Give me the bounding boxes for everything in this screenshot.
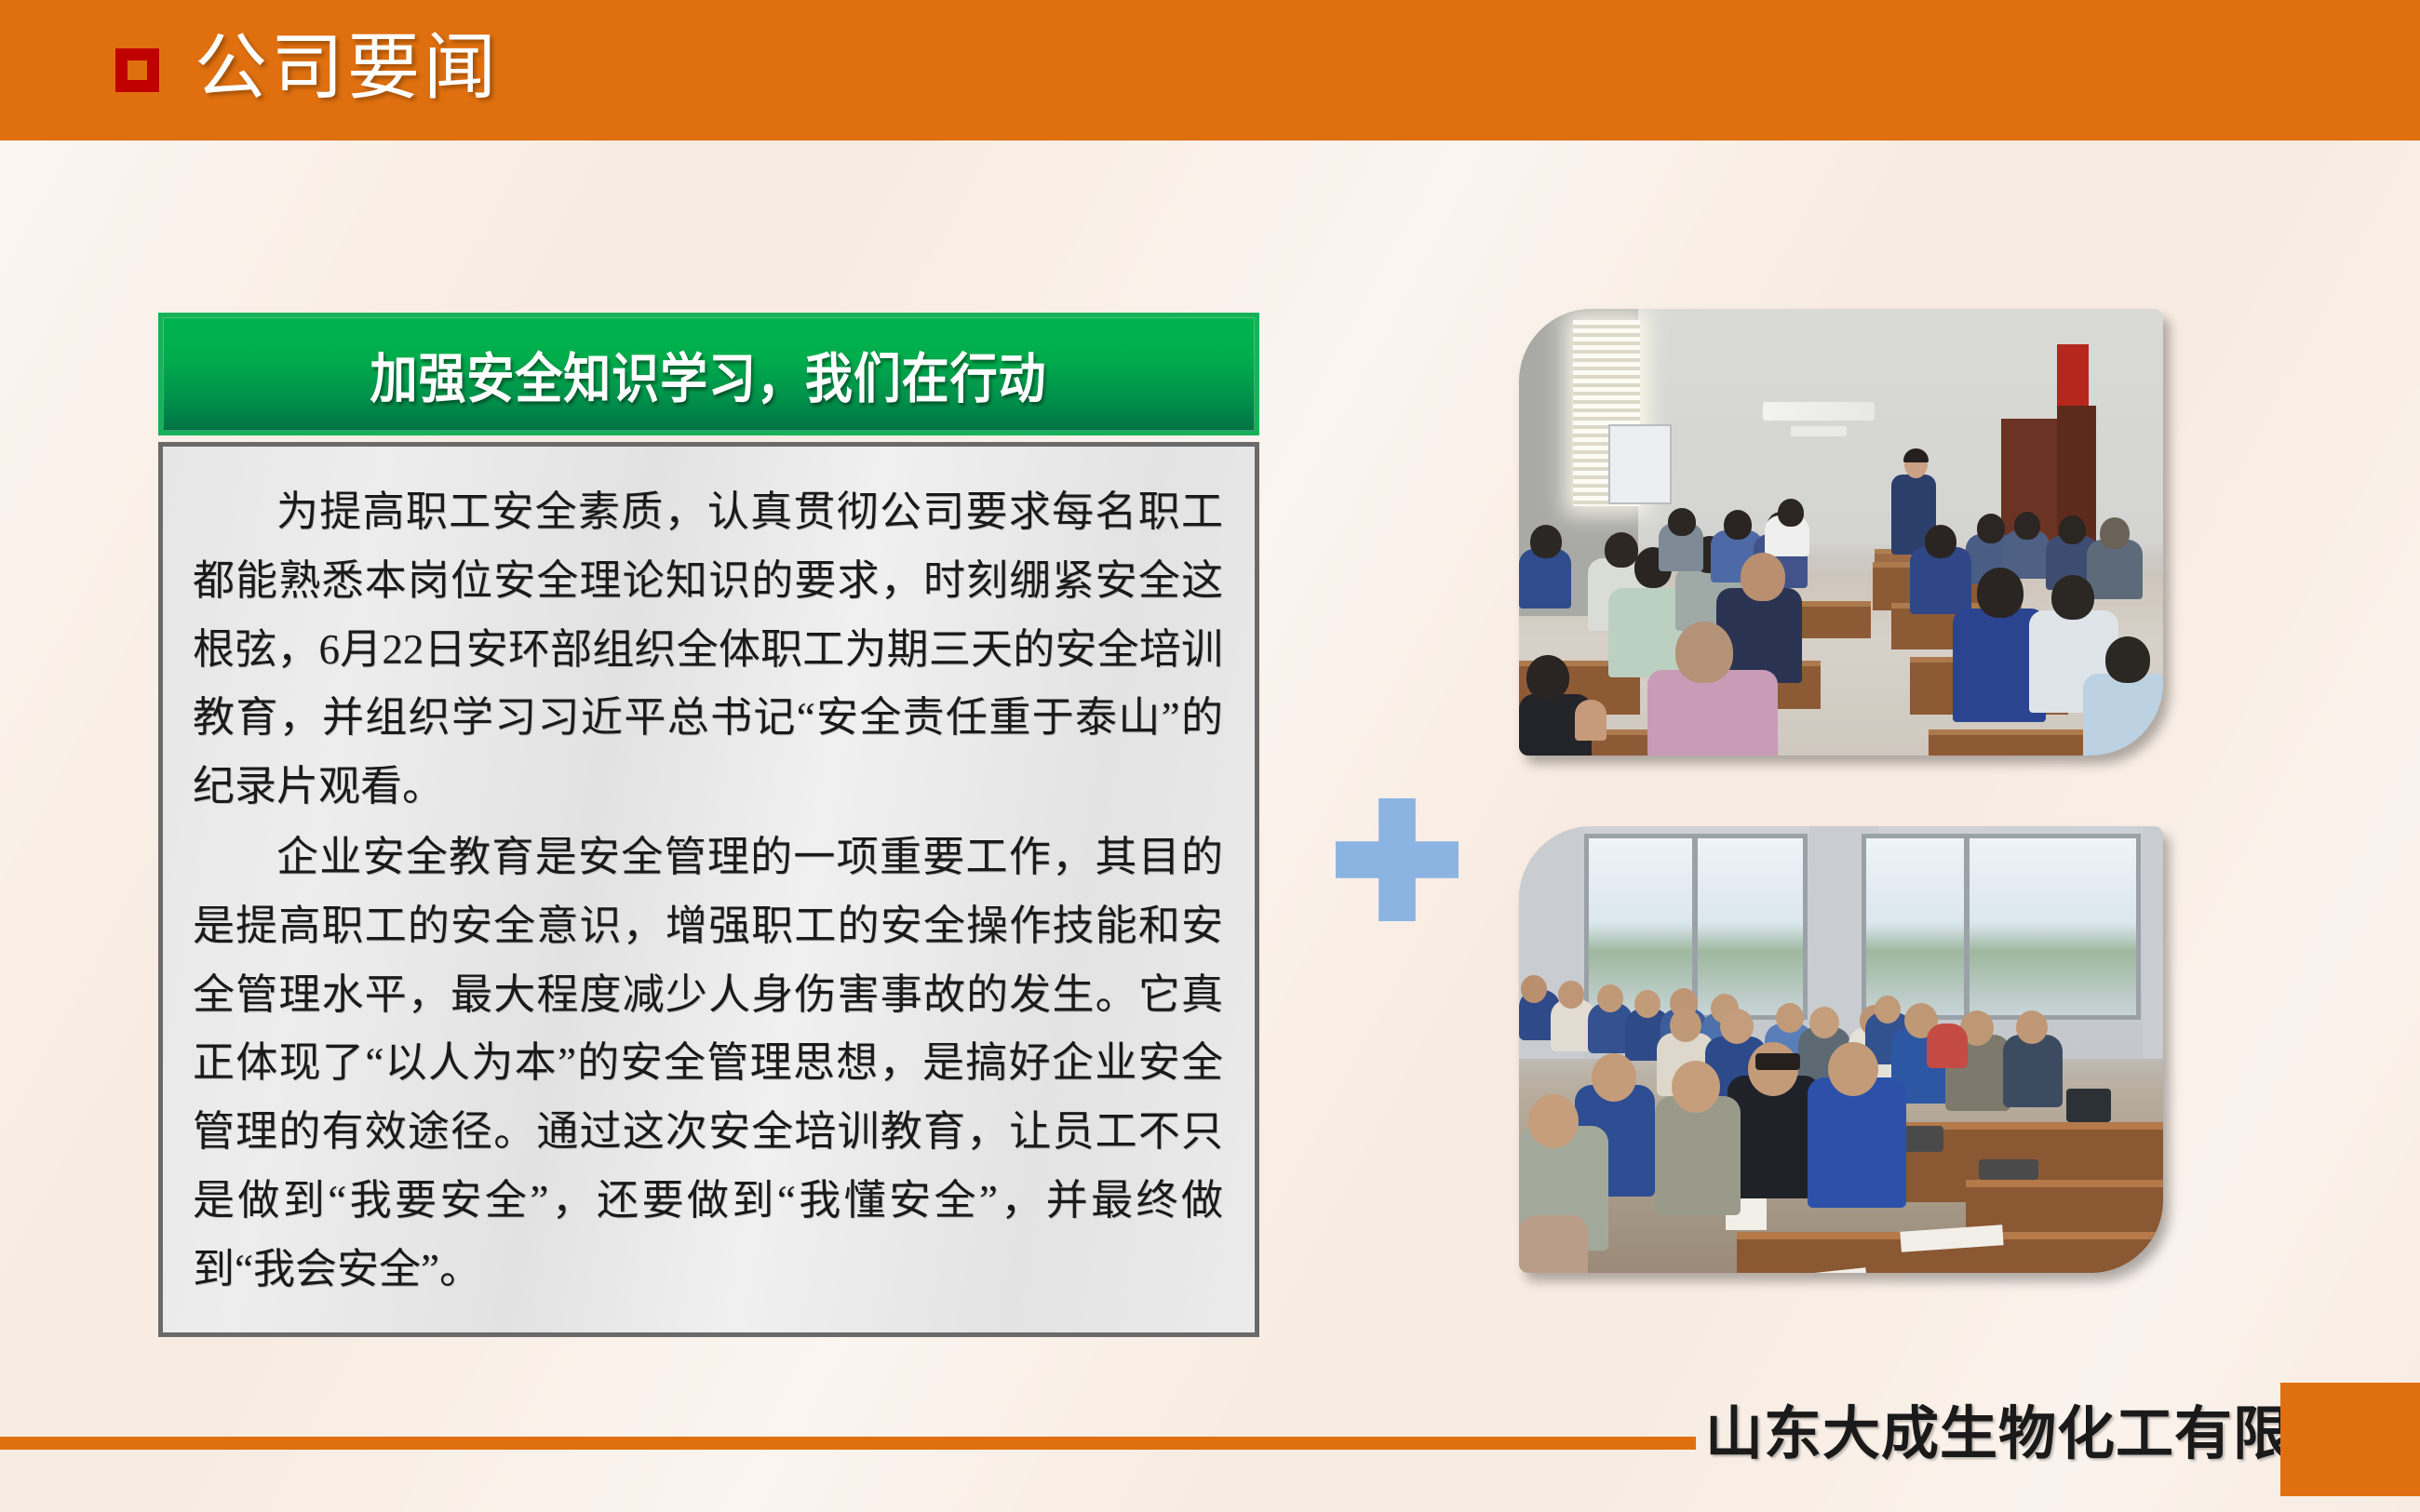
pillar [2143, 826, 2163, 1059]
attendee-head [1605, 532, 1638, 568]
article-body: 为提高职工安全素质，认真贯彻公司要求每名职工都能熟悉本岗位安全理论知识的要求，时… [158, 442, 1259, 1337]
plus-cross-icon [1336, 798, 1459, 921]
raised-hand [1575, 700, 1607, 741]
attendee-head [2016, 1010, 2048, 1044]
red-banner [2057, 344, 2089, 411]
photo-training-audience-scene [1519, 826, 2163, 1273]
attendee-head [1521, 975, 1547, 1003]
attendee-head [1809, 1007, 1839, 1038]
attendee-head [1875, 996, 1901, 1024]
projection-subtitle [1791, 426, 1847, 436]
attendee-torso [1927, 1024, 1968, 1068]
attendee-head [2105, 636, 2150, 683]
article-card: 加强安全知识学习，我们在行动 为提高职工安全素质，认真贯彻公司要求每名职工都能熟… [158, 313, 1259, 1337]
monitor [2066, 1089, 2111, 1122]
article-paragraph-1: 为提高职工安全素质，认真贯彻公司要求每名职工都能熟悉本岗位安全理论知识的要求，时… [193, 478, 1223, 822]
attendee-torso-front [1519, 1215, 1588, 1273]
attendee-head [1526, 655, 1569, 700]
attendee-head [1925, 525, 1956, 558]
attendee-head [1668, 508, 1696, 536]
article-title: 加强安全知识学习，我们在行动 [370, 335, 1047, 413]
attendee-head [1741, 553, 1785, 601]
attendee-head [1977, 568, 2023, 618]
article-paragraph-2: 企业安全教育是安全管理的一项重要工作，其目的是提高职工的安全意识，增强职工的安全… [193, 823, 1223, 1305]
attendee-head [2014, 512, 2040, 540]
attendee-head [1670, 1009, 1701, 1042]
attendee-head [2100, 517, 2130, 549]
eyeglasses [1755, 1053, 1800, 1070]
attendee-torso [2003, 1035, 2063, 1107]
red-square-outline-icon [115, 48, 159, 92]
attendee-head [1776, 1003, 1804, 1033]
remote-device [1979, 1159, 2038, 1180]
attendee-torso [2083, 674, 2163, 756]
attendee-head [1675, 622, 1733, 683]
attendee-torso-front [1655, 1096, 1741, 1215]
attendee-head [1530, 525, 1562, 558]
attendee-head [1634, 990, 1660, 1018]
photo-training-lecture [1519, 309, 2163, 756]
page-header-bar: 公司要闻 [0, 0, 2420, 140]
attendee-head [1720, 1009, 1754, 1044]
attendee-head [1778, 499, 1804, 527]
attendee-torso-front [1808, 1077, 1906, 1208]
window-right [1862, 834, 2141, 1020]
photo-training-audience [1519, 826, 2163, 1273]
attendee-head-front [1672, 1061, 1720, 1113]
whiteboard [1608, 424, 1672, 504]
attendee-head [1724, 510, 1752, 540]
window-mullion [1964, 834, 1970, 1020]
attendee-head [2059, 515, 2086, 544]
photo-training-lecture-scene [1519, 309, 2163, 756]
page-title: 公司要闻 [195, 31, 500, 103]
speaker-hair [1903, 448, 1929, 462]
footer-accent-block [2280, 1383, 2420, 1496]
attendee-head [1597, 984, 1623, 1012]
attendee-head [2051, 575, 2094, 620]
attendee-torso [1647, 670, 1778, 756]
attendee-head-front [1592, 1053, 1636, 1102]
attendee-head [1977, 514, 2005, 543]
footer-accent-line [0, 1437, 1696, 1450]
attendee-head [1558, 981, 1584, 1009]
article-title-bar: 加强安全知识学习，我们在行动 [158, 313, 1259, 435]
attendee-head-front [1528, 1094, 1579, 1148]
attendee-head-front [1828, 1042, 1878, 1096]
projection-title [1763, 402, 1875, 421]
